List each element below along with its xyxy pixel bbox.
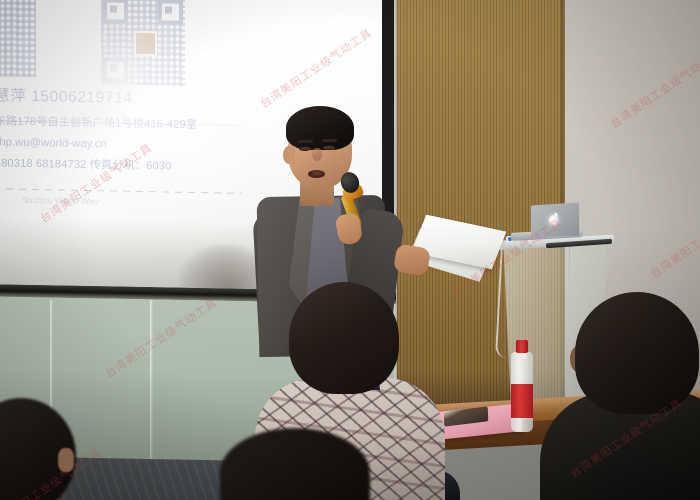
slide-footer-line: Suzhou World-Way <box>22 195 272 210</box>
qr-finder-top-right <box>158 0 183 25</box>
speaker-mouth <box>308 170 325 178</box>
qr-code-primary <box>101 0 185 86</box>
speaker-nose <box>312 148 322 161</box>
apple-logo-icon <box>549 215 558 225</box>
water-bottle <box>511 340 533 432</box>
slide-dashed-divider <box>6 189 242 194</box>
audience-member-left-ear <box>58 448 74 472</box>
audience-member-man-right-head <box>575 292 699 414</box>
bottle-label <box>511 384 533 418</box>
speaker-hair <box>286 106 354 150</box>
photograph-conference-presentation: 吴慧萍 15006219714 干将东路178号自主创新广场1号楼416-429… <box>0 0 700 500</box>
qr-center-logo <box>134 31 157 56</box>
speaker-brow-right <box>322 139 337 142</box>
slide-email-line: mail: hp.wu@world-way.cn <box>0 137 272 154</box>
speaker-eye-right <box>323 146 335 150</box>
bottle-cap <box>516 340 528 353</box>
slide-phone-line: 2-68180318 68184732 传真分机：6030 <box>0 158 272 175</box>
audience-member-woman-center-head <box>289 282 399 394</box>
speaker-eye-left <box>299 147 311 151</box>
speaker-brow-left <box>298 140 313 143</box>
speaker-ear <box>283 146 295 164</box>
qr-finder-bottom-left <box>103 57 128 82</box>
slide-contact-block: 吴慧萍 15006219714 干将东路178号自主创新广场1号楼416-429… <box>0 88 272 184</box>
slide-contact-name: 吴慧萍 15006219714 <box>0 88 272 110</box>
qr-finder-top-left <box>103 0 128 24</box>
qr-code-secondary <box>0 0 36 77</box>
